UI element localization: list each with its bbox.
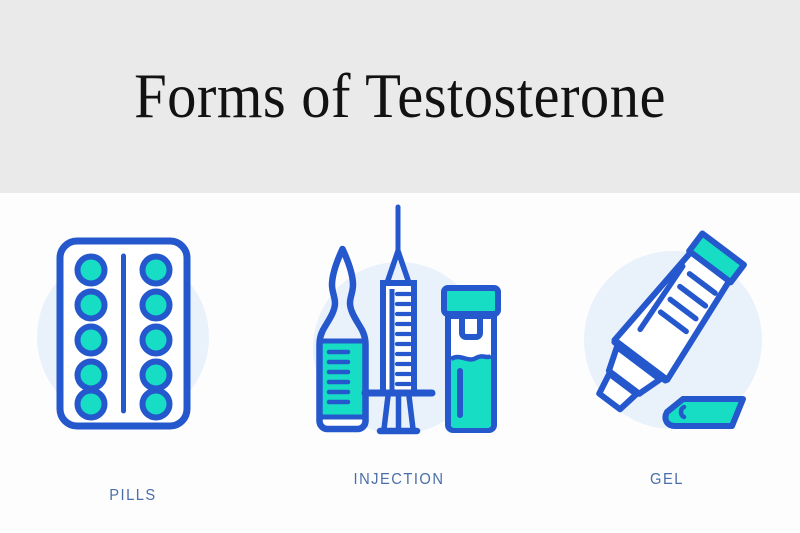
squeezed-gel	[665, 399, 743, 426]
pills-icon-wrap	[0, 193, 266, 443]
pill	[143, 292, 170, 319]
pill-column-right	[143, 257, 170, 418]
gel-icon-wrap	[534, 193, 800, 443]
vial-cap	[444, 288, 498, 314]
pill	[143, 257, 170, 284]
pill	[78, 327, 105, 354]
form-label-injection: INJECTION	[277, 471, 522, 489]
pill	[143, 362, 170, 389]
form-item-pills: PILLS	[0, 193, 266, 533]
gel-tube-icon	[547, 193, 787, 443]
pill	[143, 391, 170, 418]
pill	[143, 327, 170, 354]
gel-blob	[665, 399, 743, 426]
pill	[78, 362, 105, 389]
form-item-gel: GEL	[534, 193, 800, 533]
pill	[78, 292, 105, 319]
pill	[78, 257, 105, 284]
form-label-pills: PILLS	[11, 487, 256, 505]
syringe-barrel	[383, 283, 414, 393]
injection-syringe-ampoule-vial-icon	[284, 193, 514, 443]
injection-icon-wrap	[266, 193, 532, 443]
forms-row: PILLS	[0, 193, 800, 533]
form-label-gel: GEL	[545, 471, 790, 489]
page-title: Forms of Testosterone	[28, 0, 772, 193]
vial-icon	[444, 288, 498, 430]
form-item-injection: INJECTION	[266, 193, 532, 533]
infographic-page: Forms of Testosterone	[0, 0, 800, 533]
pill	[78, 391, 105, 418]
pills-blister-pack-icon	[13, 193, 253, 443]
pill-column-left	[78, 257, 105, 418]
